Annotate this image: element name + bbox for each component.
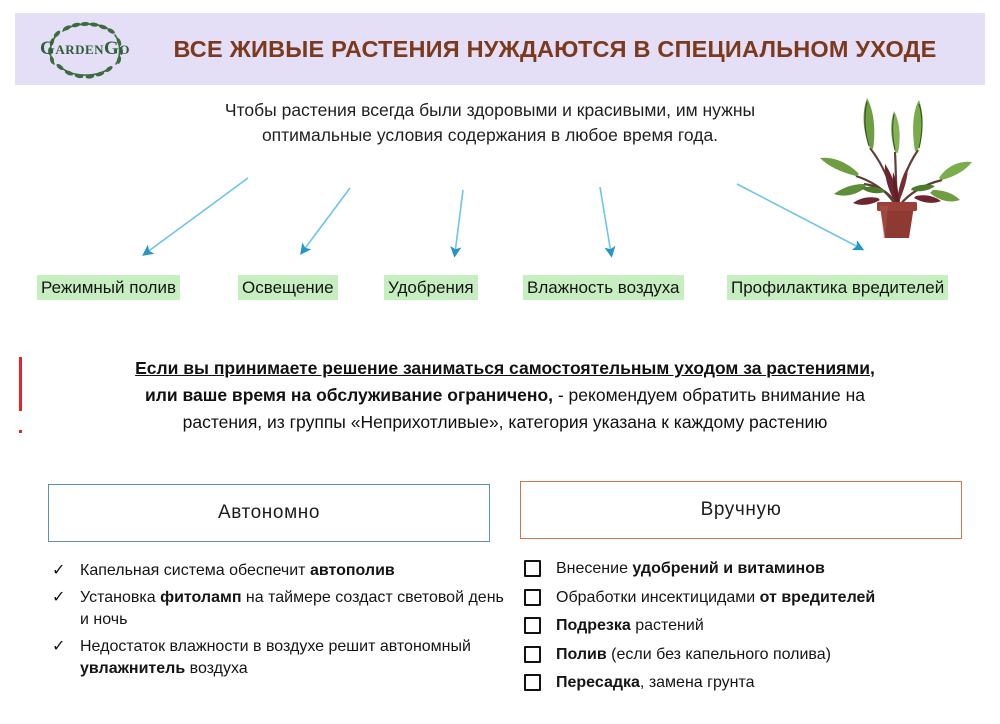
arrow-to-udobreniya: [455, 190, 463, 253]
quote-accent-dot: [19, 430, 22, 433]
header-band: GardenGo ВСЕ ЖИВЫЕ РАСТЕНИЯ НУЖДАЮТСЯ В …: [15, 13, 985, 85]
column-heading-autonomous-label: Автономно: [218, 502, 320, 524]
list-item-text: Полив (если без капельного полива): [556, 644, 990, 667]
list-item: Полив (если без капельного полива): [520, 644, 990, 669]
list-item-bold: автополив: [310, 562, 395, 579]
quote-line-1-tail: ,: [870, 358, 875, 378]
list-item-text: Недостаток влажности в воздухе решит авт…: [80, 636, 508, 681]
list-item-bold: увлажнитель: [80, 660, 185, 677]
quote-line-1-strong: Если вы принимаете решение заниматься са…: [135, 358, 870, 378]
list-item-bold: фитоламп: [160, 589, 241, 606]
tag-osveshchenie[interactable]: Освещение: [238, 275, 338, 300]
list-item-post: (если без капельного полива): [607, 646, 831, 663]
quote-line-2: или ваше время на обслуживание ограничен…: [35, 382, 975, 409]
list-item-pre: Недостаток влажности в воздухе решит авт…: [80, 638, 471, 655]
list-item: Внесение удобрений и витаминов: [520, 558, 990, 583]
list-item-pre: Внесение: [556, 560, 632, 577]
list-item-bold: Пересадка: [556, 674, 640, 691]
quote-line-3: растения, из группы «Неприхотливые», кат…: [35, 409, 975, 436]
quote-line-2-rest: - рекомендуем обратить внимание на: [553, 385, 865, 405]
column-heading-autonomous[interactable]: Автономно: [48, 484, 490, 542]
list-item-bold: от вредителей: [760, 589, 876, 606]
list-item-post: растений: [631, 617, 704, 634]
list-item-bold: Подрезка: [556, 617, 631, 634]
list-item-post: воздуха: [185, 660, 248, 677]
list-item: Обработки инсектицидами от вредителей: [520, 587, 990, 612]
quote-block: Если вы принимаете решение заниматься са…: [35, 355, 975, 436]
arrow-to-vlazhnost: [600, 187, 611, 253]
tag-udobreniya[interactable]: Удобрения: [384, 275, 478, 300]
list-item-bold: удобрений и витаминов: [632, 560, 824, 577]
quote-line-2-strong: или ваше время на обслуживание ограничен…: [145, 385, 553, 405]
tag-vlazhnost-vozduha[interactable]: Влажность воздуха: [523, 275, 684, 300]
column-heading-manual-label: Вручную: [701, 499, 782, 521]
column-heading-manual[interactable]: Вручную: [520, 481, 962, 539]
arrow-group: [0, 150, 1000, 280]
list-item: Подрезка растений: [520, 615, 990, 640]
list-item-text: Установка фитоламп на таймере создаст св…: [80, 587, 508, 632]
check-icon: ✓: [48, 587, 80, 609]
checkbox-icon[interactable]: [520, 672, 556, 697]
subtitle-line-2: оптимальные условия содержания в любое в…: [170, 123, 810, 148]
quote-line-1: Если вы принимаете решение заниматься са…: [35, 355, 975, 382]
list-item-pre: Обработки инсектицидами: [556, 589, 760, 606]
checkbox-icon[interactable]: [520, 615, 556, 640]
check-icon: ✓: [48, 560, 80, 582]
list-item-text: Внесение удобрений и витаминов: [556, 558, 990, 581]
list-item-text: Капельная система обеспечит автополив: [80, 560, 508, 583]
list-item: ✓ Недостаток влажности в воздухе решит а…: [48, 636, 508, 681]
list-item: Пересадка, замена грунта: [520, 672, 990, 697]
manual-list: Внесение удобрений и витаминов Обработки…: [520, 558, 990, 701]
autonomous-list: ✓ Капельная система обеспечит автополив …: [48, 560, 508, 685]
arrow-to-osveshchenie: [303, 188, 350, 251]
subtitle-block: Чтобы растения всегда были здоровыми и к…: [170, 98, 810, 148]
list-item-text: Подрезка растений: [556, 615, 990, 638]
list-item: ✓ Капельная система обеспечит автополив: [48, 560, 508, 583]
brand-logo-text: GardenGo: [40, 38, 130, 60]
subtitle-line-1: Чтобы растения всегда были здоровыми и к…: [170, 98, 810, 123]
list-item-post: , замена грунта: [640, 674, 755, 691]
list-item: ✓ Установка фитоламп на таймере создаст …: [48, 587, 508, 632]
slide-root: GardenGo ВСЕ ЖИВЫЕ РАСТЕНИЯ НУЖДАЮТСЯ В …: [0, 0, 1000, 724]
arrow-to-rezhimnyy-poliv: [146, 178, 248, 253]
checkbox-icon[interactable]: [520, 644, 556, 669]
checkbox-icon[interactable]: [520, 587, 556, 612]
quote-accent-bar: [19, 357, 22, 411]
page-title: ВСЕ ЖИВЫЕ РАСТЕНИЯ НУЖДАЮТСЯ В СПЕЦИАЛЬН…: [155, 36, 985, 63]
care-tags-row: Режимный полив Освещение Удобрения Влажн…: [0, 275, 1000, 301]
list-item-pre: Установка: [80, 589, 160, 606]
tag-rezhimnyy-poliv[interactable]: Режимный полив: [37, 275, 180, 300]
check-icon: ✓: [48, 636, 80, 658]
list-item-text: Пересадка, замена грунта: [556, 672, 990, 695]
tag-profilaktika-vrediteley[interactable]: Профилактика вредителей: [727, 275, 948, 300]
brand-logo: GardenGo: [15, 13, 155, 85]
list-item-text: Обработки инсектицидами от вредителей: [556, 587, 990, 610]
list-item-pre: Капельная система обеспечит: [80, 562, 310, 579]
arrow-to-profilaktika: [737, 184, 860, 248]
list-item-bold: Полив: [556, 646, 607, 663]
checkbox-icon[interactable]: [520, 558, 556, 583]
